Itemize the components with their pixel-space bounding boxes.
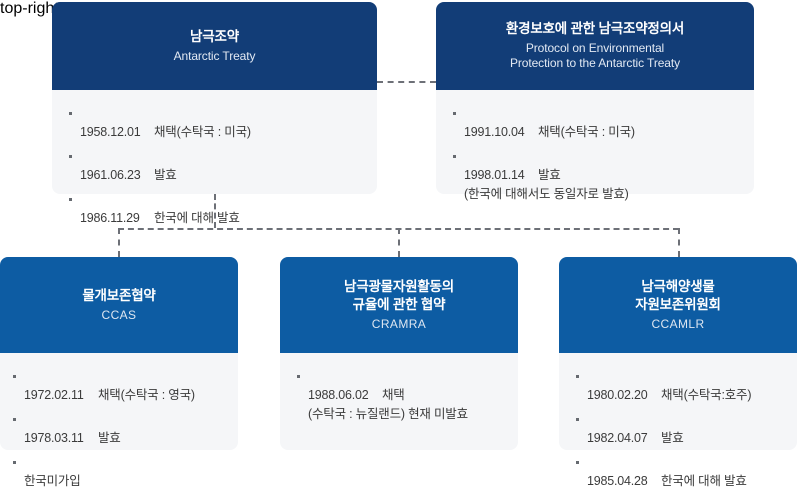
card-ccas: 물개보존협약 CCAS 1972.02.11채택(수탁국 : 영국) 1978.…: [0, 257, 238, 450]
card-ccamlr: 남극해양생물 자원보존위원회 CCAMLR 1980.02.20채택(수탁국:호…: [559, 257, 797, 450]
card-header-ccas: 물개보존협약 CCAS: [0, 257, 238, 353]
connector-tree-stem: [214, 194, 216, 228]
fact-date: 1958.12.01: [80, 123, 154, 142]
card-title-en-cramra: CRAMRA: [372, 317, 426, 333]
fact-text: 채택(수탁국 : 영국): [98, 388, 195, 402]
card-title-en-ccas: CCAS: [102, 308, 137, 324]
card-body-ccas: 1972.02.11채택(수탁국 : 영국) 1978.03.11발효 한국미가…: [0, 353, 238, 450]
fact-list-ccamlr: 1980.02.20채택(수탁국:호주) 1982.04.07발효 1985.0…: [575, 367, 781, 491]
card-body-antarctic-treaty: 1958.12.01채택(수탁국 : 미국) 1961.06.23발효 1986…: [52, 90, 377, 194]
list-item: 1961.06.23발효: [68, 147, 361, 185]
connector-drop-cramra: [398, 228, 400, 257]
card-antarctic-treaty: 남극조약 Antarctic Treaty 1958.12.01채택(수탁국 :…: [52, 2, 377, 194]
card-environmental-protocol: 환경보호에 관한 남극조약정의서 Protocol on Environment…: [436, 2, 754, 194]
fact-text: 발효: [98, 431, 121, 445]
list-item: 1982.04.07발효: [575, 410, 781, 448]
card-title-en-antarctic-treaty: Antarctic Treaty: [174, 49, 256, 65]
fact-date: 1985.04.28: [587, 472, 661, 491]
fact-text: 한국에 대해 발효: [661, 474, 747, 488]
fact-date: 1988.06.02: [308, 386, 382, 405]
card-body-environmental-protocol: 1991.10.04채택(수탁국 : 미국) 1998.01.14발효 (한국에…: [436, 90, 754, 194]
list-item: 1988.06.02채택 (수탁국 : 뉴질랜드) 현재 미발효: [296, 367, 502, 424]
card-title-ko-ccamlr: 남극해양생물 자원보존위원회: [635, 278, 721, 314]
fact-date: 1986.11.29: [80, 209, 154, 228]
fact-date: 1998.01.14: [464, 166, 538, 185]
fact-date: 1991.10.04: [464, 123, 538, 142]
card-title-ko-cramra: 남극광물자원활동의 규율에 관한 협약: [344, 278, 454, 314]
fact-text: 발효: [661, 431, 684, 445]
card-body-cramra: 1988.06.02채택 (수탁국 : 뉴질랜드) 현재 미발효: [280, 353, 518, 450]
list-item: 1991.10.04채택(수탁국 : 미국): [452, 104, 738, 142]
card-body-ccamlr: 1980.02.20채택(수탁국:호주) 1982.04.07발효 1985.0…: [559, 353, 797, 450]
fact-text: 한국에 대해 발효: [154, 211, 240, 225]
list-item: 1985.04.28한국에 대해 발효: [575, 453, 781, 491]
fact-list-ccas: 1972.02.11채택(수탁국 : 영국) 1978.03.11발효 한국미가…: [12, 367, 222, 491]
fact-list-cramra: 1988.06.02채택 (수탁국 : 뉴질랜드) 현재 미발효: [296, 367, 502, 424]
card-title-en-environmental-protocol: Protocol on Environmental Protection to …: [510, 41, 680, 72]
list-item: 한국미가입: [12, 453, 222, 491]
diagram-canvas: 남극조약 Antarctic Treaty 1958.12.01채택(수탁국 :…: [0, 0, 797, 454]
card-header-antarctic-treaty: 남극조약 Antarctic Treaty: [52, 2, 377, 90]
card-header-ccamlr: 남극해양생물 자원보존위원회 CCAMLR: [559, 257, 797, 353]
fact-text: 한국미가입: [24, 474, 81, 488]
list-item: 1978.03.11발효: [12, 410, 222, 448]
list-item: 1958.12.01채택(수탁국 : 미국): [68, 104, 361, 142]
card-header-environmental-protocol: 환경보호에 관한 남극조약정의서 Protocol on Environment…: [436, 2, 754, 90]
connector-drop-ccamlr: [678, 228, 680, 257]
fact-text: 채택(수탁국:호주): [661, 388, 751, 402]
card-title-en-ccamlr: CCAMLR: [651, 317, 704, 333]
card-title-ko-environmental-protocol: 환경보호에 관한 남극조약정의서: [506, 20, 684, 38]
connector-top-horizontal: [377, 81, 436, 83]
fact-date: 1972.02.11: [24, 386, 98, 405]
fact-date: 1961.06.23: [80, 166, 154, 185]
fact-date: 1980.02.20: [587, 386, 661, 405]
fact-date: 1982.04.07: [587, 429, 661, 448]
fact-text: 발효: [154, 168, 177, 182]
card-title-ko-ccas: 물개보존협약: [82, 287, 155, 305]
card-title-ko-antarctic-treaty: 남극조약: [190, 28, 239, 46]
card-cramra: 남극광물자원활동의 규율에 관한 협약 CRAMRA 1988.06.02채택 …: [280, 257, 518, 450]
list-item: 1972.02.11채택(수탁국 : 영국): [12, 367, 222, 405]
list-item: 1998.01.14발효 (한국에 대해서도 동일자로 발효): [452, 147, 738, 204]
card-header-cramra: 남극광물자원활동의 규율에 관한 협약 CRAMRA: [280, 257, 518, 353]
connector-drop-ccas: [118, 228, 120, 257]
fact-text: 채택(수탁국 : 미국): [538, 125, 635, 139]
fact-date: 1978.03.11: [24, 429, 98, 448]
fact-list-environmental-protocol: 1991.10.04채택(수탁국 : 미국) 1998.01.14발효 (한국에…: [452, 104, 738, 204]
fact-text: 채택(수탁국 : 미국): [154, 125, 251, 139]
list-item: 1980.02.20채택(수탁국:호주): [575, 367, 781, 405]
